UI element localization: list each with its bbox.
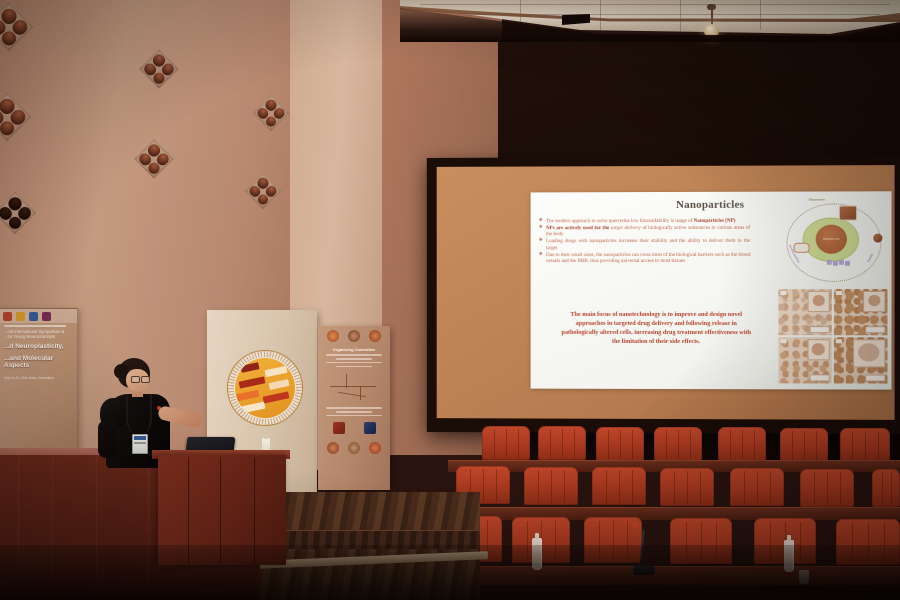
seat xyxy=(654,427,702,461)
lanyard xyxy=(126,394,152,434)
micrograph-panel xyxy=(834,289,888,335)
bullet-text: Loading drugs with nanoparticles increas… xyxy=(546,238,750,251)
diamond-bullet-icon: ❖ xyxy=(539,238,543,251)
conference-logo-icon xyxy=(227,350,303,426)
poster-left-title-1: ...d Neuroplasticity, xyxy=(4,343,72,351)
floor-shadow xyxy=(0,545,900,600)
bullet-text: The modern approach to solve quercetins … xyxy=(546,218,736,225)
seat xyxy=(660,468,714,506)
slide-bullet-item: ❖ The modern approach to solve quercetin… xyxy=(539,218,751,225)
rollup-logo-row-bottom xyxy=(318,438,390,458)
speaker-left-arm xyxy=(98,420,116,458)
seat xyxy=(840,428,890,462)
slide-bullet-item: ❖ NPs are actively used for the target d… xyxy=(539,225,751,238)
poster-rollup-banner: Organizing Committee xyxy=(318,326,390,490)
diagram-side-dot-icon xyxy=(873,234,882,243)
slide-bullet-list: ❖ The modern approach to solve quercetin… xyxy=(539,218,751,265)
projection-screen-frame: Nanoparticles ❖ The modern approach to s… xyxy=(427,156,900,434)
seat xyxy=(730,468,784,506)
seat xyxy=(800,469,854,507)
micrograph-panel xyxy=(778,289,831,335)
microphone-led-icon xyxy=(634,524,637,527)
seat xyxy=(592,467,646,505)
conference-badge xyxy=(132,434,148,454)
diamond-bullet-icon: ❖ xyxy=(539,225,543,238)
bullet-text: NPs are actively used for the target del… xyxy=(546,225,750,238)
diagram-core-label: Magnetic core xyxy=(816,225,847,254)
diagram-chip-icon xyxy=(839,205,857,220)
diamond-bullet-icon: ❖ xyxy=(539,218,543,224)
slide-key-message: The main focus of nanotechnology is to i… xyxy=(558,310,754,346)
presentation-slide: Nanoparticles ❖ The modern approach to s… xyxy=(531,191,892,389)
slide-bullet-item: ❖ Due to their small sizes, the nanopart… xyxy=(539,251,751,264)
poster-left-logo-row xyxy=(0,309,77,323)
bullet-text: Due to their small sizes, the nanopartic… xyxy=(546,251,750,264)
seat xyxy=(872,469,900,507)
seat xyxy=(780,428,828,462)
nanoparticle-diagram: Dispersion Magnetic core Biodegradabilit… xyxy=(778,197,887,286)
seat xyxy=(538,426,586,460)
projection-screen-surface: Nanoparticles ❖ The modern approach to s… xyxy=(437,165,895,420)
seat xyxy=(482,426,530,460)
seat xyxy=(524,467,578,505)
poster-left-title-2: ...and Molecular Aspects xyxy=(4,355,72,370)
micrograph-panel xyxy=(834,337,888,383)
diagram-core: Magnetic core xyxy=(816,225,847,254)
micrograph-grid xyxy=(778,289,887,384)
slide-bullet-item: ❖ Loading drugs with nanoparticles incre… xyxy=(539,238,751,251)
poster-left-banner: ...nal International Symposium & ...for … xyxy=(0,308,78,460)
rollup-title: Organizing Committee xyxy=(324,347,384,352)
diagram-top-label: Dispersion xyxy=(809,198,825,202)
rollup-square-logos xyxy=(318,418,390,438)
logo-ring-lettering xyxy=(228,351,302,425)
rollup-diagram xyxy=(326,370,382,404)
micrograph-inset xyxy=(863,291,885,312)
auditorium-photo: ...nal International Symposium & ...for … xyxy=(0,0,900,600)
diamond-bullet-icon: ❖ xyxy=(539,252,543,265)
glasses-icon xyxy=(131,376,148,381)
seat xyxy=(596,427,644,461)
poster-left-footer: May 2x-2x, 20xx Baku, Azerbaijan xyxy=(4,376,72,380)
micrograph-inset xyxy=(807,291,829,312)
micrograph-inset xyxy=(853,339,885,367)
micrograph-inset xyxy=(807,339,829,360)
poster-left-symposium-line: ...nal International Symposium & ...for … xyxy=(4,329,72,339)
rollup-logo-row-top xyxy=(318,326,390,346)
micrograph-panel xyxy=(778,337,831,383)
seat xyxy=(718,427,766,461)
